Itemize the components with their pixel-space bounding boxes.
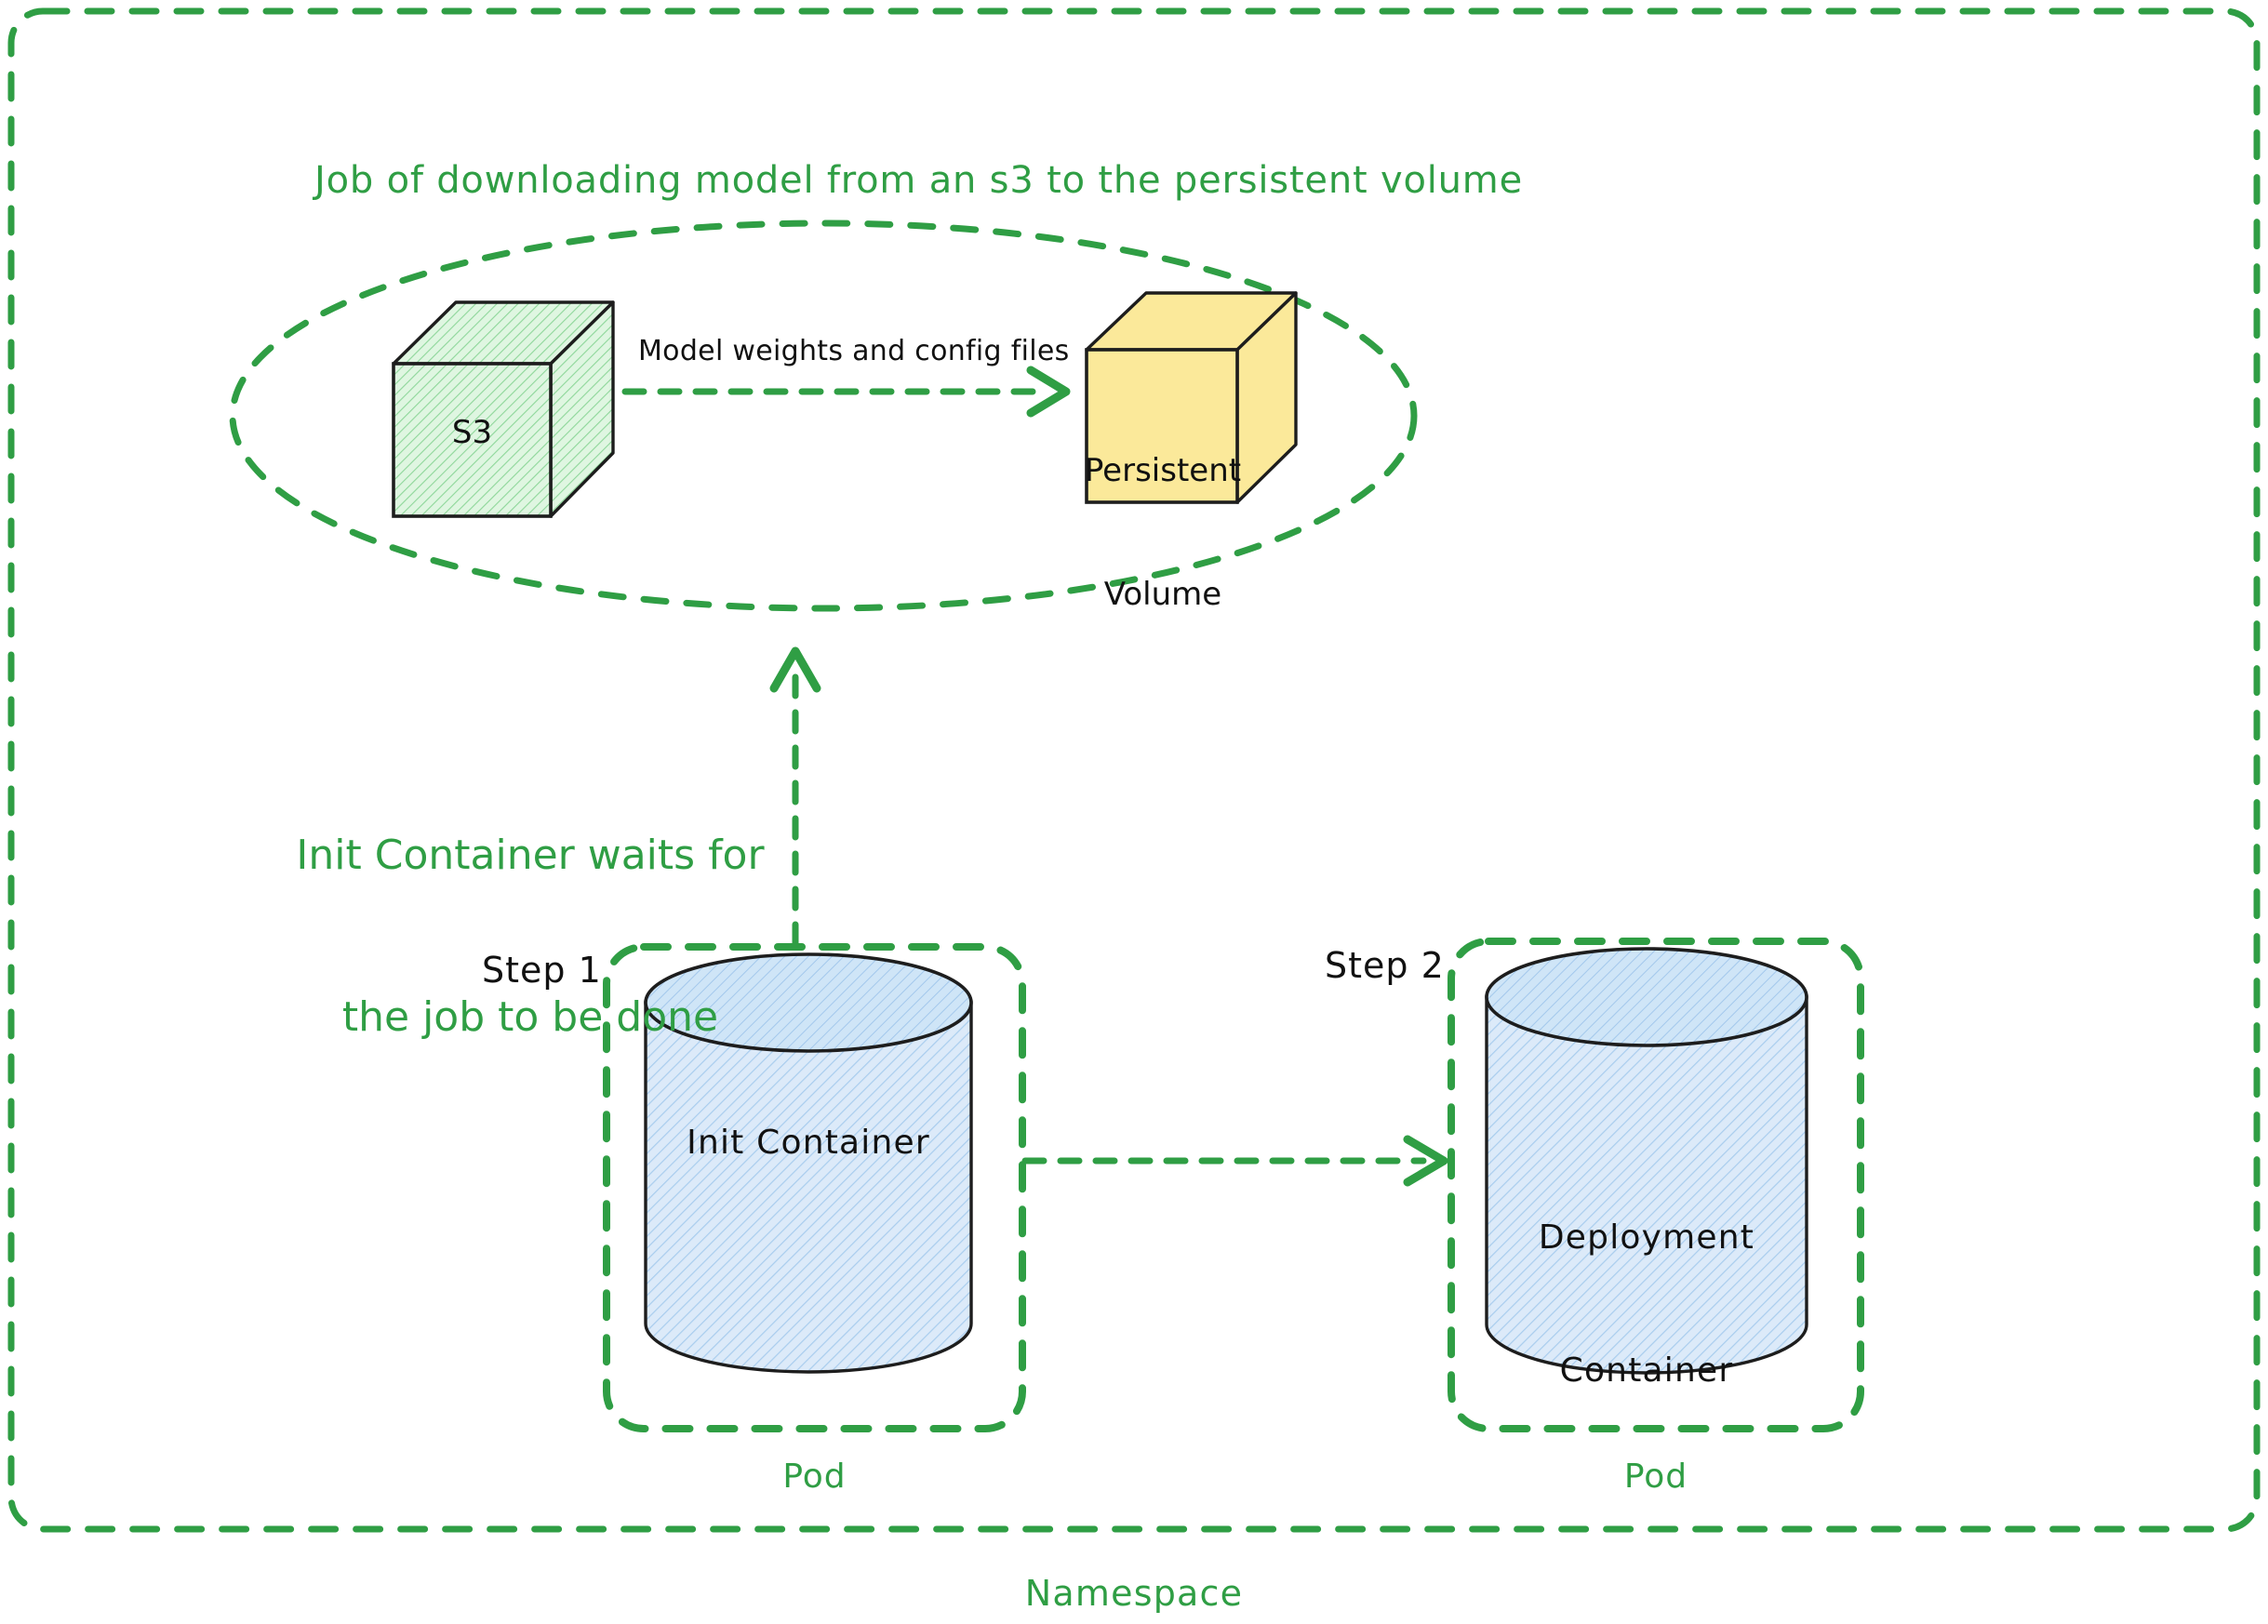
init-wait-note-line1: Init Container waits for (279, 829, 781, 883)
persistent-volume-label-line1: Persistent (1074, 450, 1251, 491)
deployment-container-label-line2: Container (1487, 1349, 1807, 1393)
diagram-canvas: Job of downloading model from an s3 to t… (0, 0, 2268, 1624)
edge-s3-to-pv (625, 370, 1066, 413)
deployment-container-label: Deployment Container (1487, 1127, 1807, 1481)
pod-1-label: Pod (607, 1457, 1022, 1498)
deployment-container-label-line1: Deployment (1487, 1216, 1807, 1260)
s3-label: S3 (394, 412, 551, 453)
persistent-volume-label: Persistent Volume (1074, 368, 1251, 698)
step-1-label: Step 1 (482, 949, 602, 992)
step-2-label: Step 2 (1325, 944, 1445, 987)
init-wait-note: Init Container waits for the job to be d… (279, 721, 781, 1153)
persistent-volume-label-line2: Volume (1074, 574, 1251, 615)
s3-cube (394, 302, 613, 516)
namespace-label: Namespace (855, 1572, 1413, 1615)
init-wait-note-line2: the job to be done (279, 991, 781, 1045)
job-title: Job of downloading model from an s3 to t… (314, 158, 1523, 204)
edge-label-model-weights: Model weights and config files (638, 335, 1070, 369)
init-container-label: Init Container (646, 1121, 971, 1165)
edge-pod1-to-pod2 (1025, 1139, 1444, 1182)
pod-2-label: Pod (1451, 1457, 1861, 1498)
